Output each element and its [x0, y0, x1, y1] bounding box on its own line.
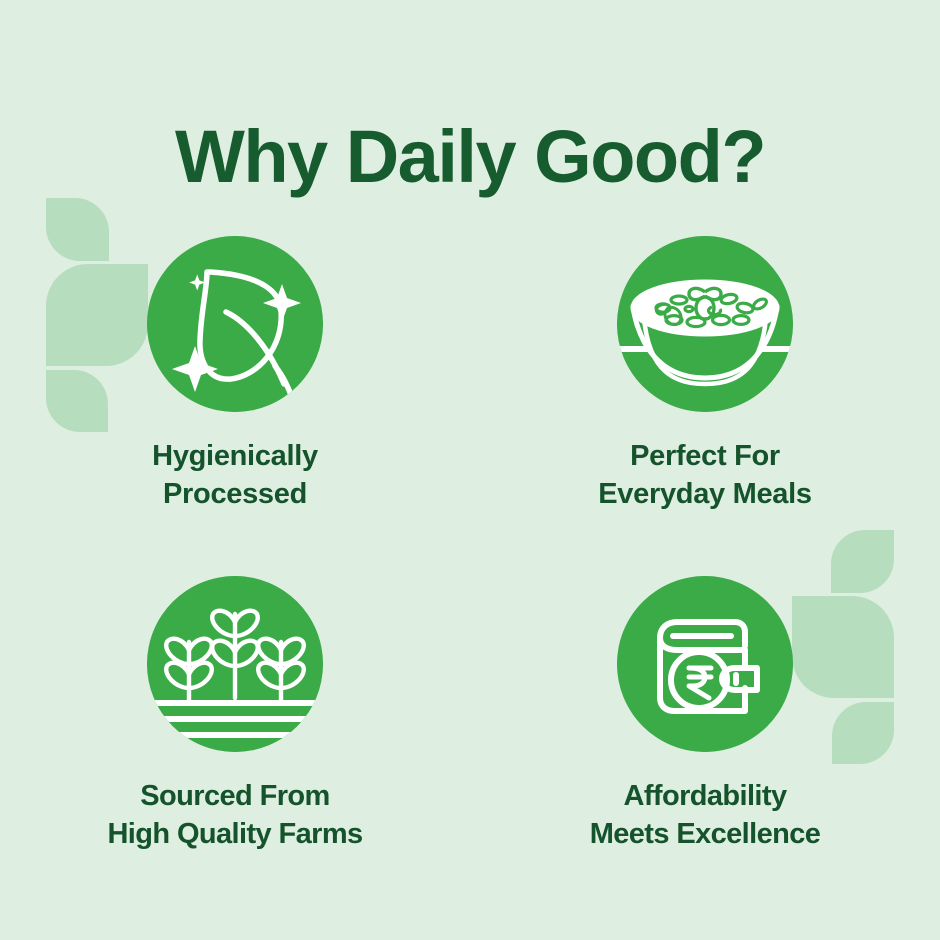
- feature-card-hygienically-processed: Hygienically Processed: [0, 236, 470, 514]
- feature-card-affordability: Affordability Meets Excellence: [470, 576, 940, 854]
- leaf-sparkle-icon: [147, 236, 323, 412]
- farm-crops-icon: [147, 576, 323, 752]
- feature-label: Perfect For Everyday Meals: [598, 437, 811, 514]
- feature-label: Affordability Meets Excellence: [590, 777, 821, 854]
- feature-label: Sourced From High Quality Farms: [107, 777, 362, 854]
- feature-grid: Hygienically Processed: [0, 236, 940, 853]
- wallet-rupee-icon: [617, 576, 793, 752]
- feature-label: Hygienically Processed: [152, 437, 318, 514]
- page-title: Why Daily Good?: [0, 120, 940, 194]
- soup-bowl-icon: [617, 236, 793, 412]
- feature-card-everyday-meals: Perfect For Everyday Meals: [470, 236, 940, 514]
- feature-card-high-quality-farms: Sourced From High Quality Farms: [0, 576, 470, 854]
- poster-canvas: Why Daily Good?: [0, 0, 940, 940]
